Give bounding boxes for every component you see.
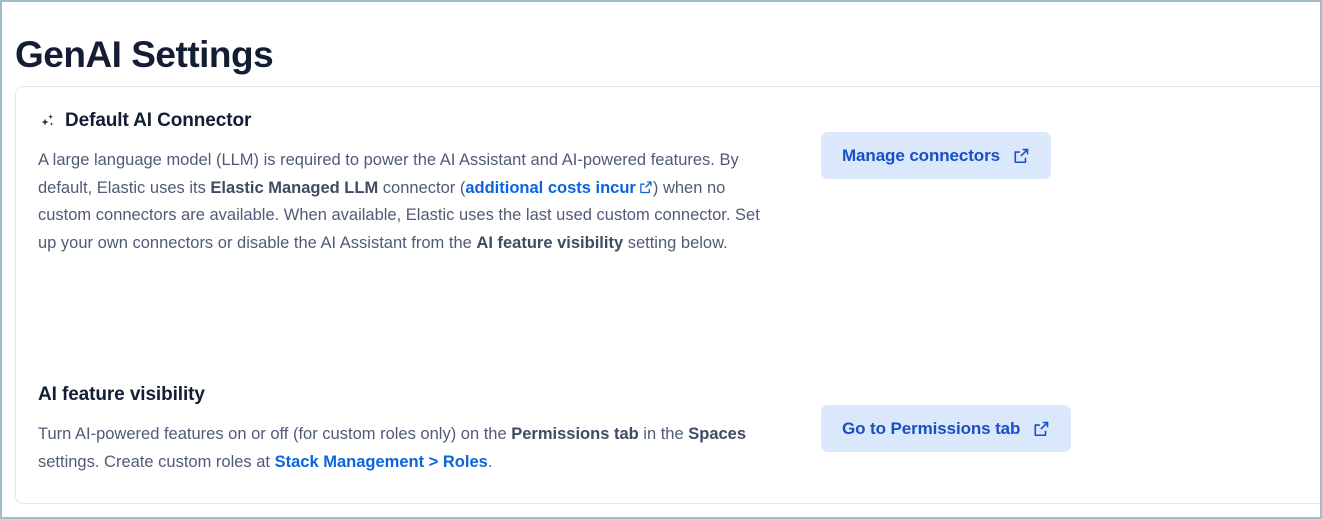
connector-description: A large language model (LLM) is required…	[38, 147, 778, 257]
visibility-section-text: AI feature visibility Turn AI-powered fe…	[38, 383, 778, 476]
external-link-icon	[1013, 147, 1030, 164]
manage-connectors-button[interactable]: Manage connectors	[821, 132, 1051, 179]
sparkles-icon	[38, 113, 56, 131]
additional-costs-incur-link[interactable]: additional costs incur	[465, 179, 653, 197]
external-link-icon	[639, 180, 653, 194]
visibility-section-heading: AI feature visibility	[38, 383, 778, 407]
external-link-icon	[1033, 420, 1050, 437]
connector-desc-part4: setting below.	[623, 234, 728, 252]
visibility-desc-part4: .	[488, 453, 493, 471]
manage-connectors-label: Manage connectors	[842, 146, 1000, 166]
visibility-heading-label: AI feature visibility	[38, 383, 205, 407]
visibility-desc-part2: in the	[639, 425, 689, 443]
visibility-desc-part1: Turn AI-powered features on or off (for …	[38, 425, 511, 443]
settings-panel: Default AI Connector A large language mo…	[15, 86, 1322, 504]
visibility-desc-bold-spaces: Spaces	[688, 425, 746, 443]
section-default-ai-connector: Default AI Connector A large language mo…	[38, 109, 1318, 257]
visibility-section-action: Go to Permissions tab	[778, 383, 1318, 452]
connector-desc-bold-ai-feature-visibility: AI feature visibility	[476, 234, 623, 252]
connector-desc-part2: connector (	[378, 179, 465, 197]
visibility-description: Turn AI-powered features on or off (for …	[38, 421, 778, 476]
connector-section-heading: Default AI Connector	[38, 109, 778, 133]
go-to-permissions-tab-label: Go to Permissions tab	[842, 419, 1020, 439]
genai-settings-page: GenAI Settings Default AI Connector	[0, 0, 1322, 519]
connector-section-action: Manage connectors	[778, 109, 1318, 179]
connector-section-text: Default AI Connector A large language mo…	[38, 109, 778, 257]
visibility-desc-bold-permissions-tab: Permissions tab	[511, 425, 638, 443]
connector-desc-bold-elastic-managed-llm: Elastic Managed LLM	[210, 179, 378, 197]
page-title: GenAI Settings	[15, 31, 273, 79]
stack-management-roles-link[interactable]: Stack Management > Roles	[275, 453, 488, 471]
visibility-desc-part3: settings. Create custom roles at	[38, 453, 275, 471]
go-to-permissions-tab-button[interactable]: Go to Permissions tab	[821, 405, 1071, 452]
connector-heading-label: Default AI Connector	[65, 109, 251, 133]
additional-costs-incur-label: additional costs incur	[465, 179, 636, 197]
section-ai-feature-visibility: AI feature visibility Turn AI-powered fe…	[38, 383, 1318, 476]
